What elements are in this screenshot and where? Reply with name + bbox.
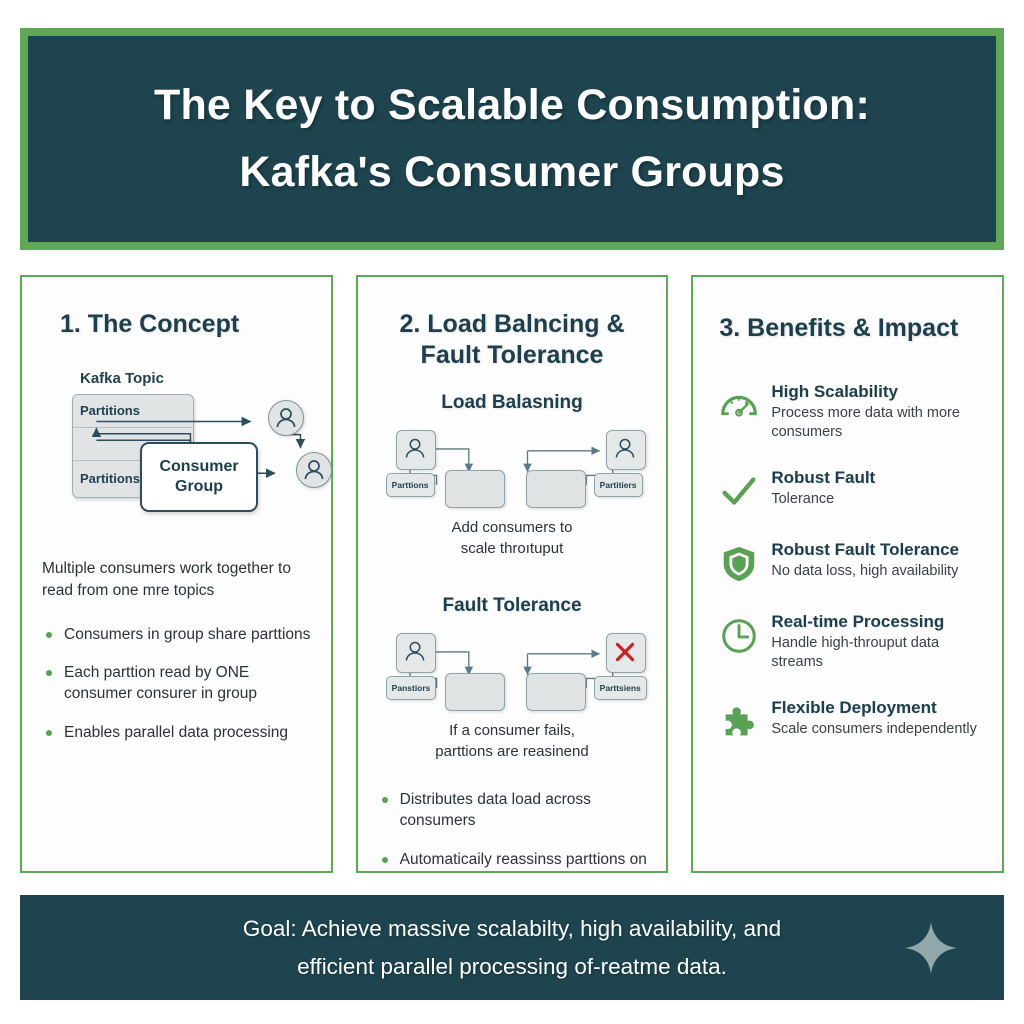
check-icon [717,470,761,514]
consumer-group-label-line1: Consumer [159,458,238,475]
benefits-list: High Scalability Process more data with … [711,382,984,744]
four-point-star-icon [903,920,959,976]
list-item: Consumers in group share parttions [40,624,313,645]
benefit-title: Robust Fault [771,468,980,488]
partition-group-box [526,470,586,508]
benefit-title: Flexible Deployment [771,698,980,718]
partition-label-box: Parttsiens [594,676,647,700]
benefit-item-high-scalability: High Scalability Process more data with … [717,382,980,442]
column-1-lead-text: Multiple consumers work together to read… [40,558,313,602]
puzzle-icon [717,700,761,744]
load-balancing-heading: Load Balasning [376,392,649,414]
benefit-description: Scale consumers independently [771,720,980,739]
benefit-description: Handle high-throuput data streams [771,634,980,672]
benefit-text-group: Real-time Processing Handle high-throupu… [761,612,980,672]
partition-group-box [445,470,505,508]
benefit-text-group: High Scalability Process more data with … [761,382,980,442]
partition-label-box: Partitiers [594,473,643,497]
clock-icon [717,614,761,658]
caption-line1: If a consumer fails, [449,722,575,739]
kafka-topic-label: Kafka Topic [80,370,164,387]
header-banner: The Key to Scalable Consumption: Kafka's… [20,28,1004,250]
fault-tolerance-heading: Fault Tolerance [376,595,649,617]
caption-line1: Add consumers to [452,519,573,536]
footer-goal-text: Goal: Achieve massive scalabilty, high a… [153,910,871,984]
benefit-item-robust-fault-tolerance: Robust Fault Tolerance No data loss, hig… [717,540,980,586]
partition-group-box [445,673,505,711]
column-1-bullet-list: Consumers in group share parttions Each … [40,624,313,744]
page-title-line1: The Key to Scalable Consumption: [154,81,870,129]
infographic-poster: The Key to Scalable Consumption: Kafka's… [0,0,1024,1024]
benefit-item-real-time-processing: Real-time Processing Handle high-throupu… [717,612,980,672]
column-benefits-impact: 3. Benefits & Impact High Scalabilit [691,275,1004,873]
list-item: Enables parallel data processing [40,722,313,743]
column-2-bullet-list: Distributes data load across consumers A… [376,789,649,873]
benefit-description: Process more data with more consumers [771,404,980,442]
benefit-text-group: Robust Fault Tolerance [761,468,980,509]
benefit-title: High Scalability [771,382,980,402]
consumer-avatar-icon [268,400,304,436]
fault-tolerance-caption: If a consumer fails, parttions are reasi… [376,721,649,762]
column-the-concept: 1. The Concept Kafka Topic Partitions Pa… [20,275,333,873]
fault-tolerance-diagram: Panstiors Parttsiens [376,627,649,709]
partition-group-box [526,673,586,711]
error-x-icon [607,634,643,670]
partition-label-box: Parttions [386,473,435,497]
benefit-text-group: Robust Fault Tolerance No data loss, hig… [761,540,980,581]
list-item: Automaticaily reassinss parttions on fai… [376,849,649,874]
list-item: Each parttion read by ONE consumer consu… [40,662,313,705]
failed-consumer-node-box [606,633,646,673]
partition-row: Partitions [73,395,193,428]
column-load-balancing-fault-tolerance: 2. Load Balncing & Fault Tolerance Load … [356,275,669,873]
columns-container: 1. The Concept Kafka Topic Partitions Pa… [20,275,1004,873]
gauge-icon [717,384,761,428]
partition-label-box: Panstiors [386,676,437,700]
list-item: Distributes data load across consumers [376,789,649,832]
benefit-item-flexible-deployment: Flexible Deployment Scale consumers inde… [717,698,980,744]
consumer-avatar-icon [296,452,332,488]
footer-line1: Goal: Achieve massive scalabilty, high a… [243,916,781,941]
shield-icon [717,542,761,586]
consumer-node-box [396,633,436,673]
benefit-description: Tolerance [771,490,980,509]
footer-banner: Goal: Achieve massive scalabilty, high a… [20,895,1004,1000]
benefit-title: Real-time Processing [771,612,980,632]
load-balancing-diagram: Parttions Partitiers [376,424,649,506]
page-title: The Key to Scalable Consumption: Kafka's… [114,72,910,205]
caption-line2: parttions are reasinend [435,743,588,760]
column-3-title: 3. Benefits & Impact [711,313,984,344]
benefit-item-robust-fault: Robust Fault Tolerance [717,468,980,514]
column-2-title: 2. Load Balncing & Fault Tolerance [376,309,649,370]
page-title-line2: Kafka's Consumer Groups [154,139,870,206]
benefit-text-group: Flexible Deployment Scale consumers inde… [761,698,980,739]
column-2-title-line2: Fault Tolerance [421,341,604,369]
benefit-description: No data loss, high availability [771,562,980,581]
column-2-title-line1: 2. Load Balncing & [399,310,624,338]
load-balancing-caption: Add consumers to scale throıtuput [376,518,649,559]
kafka-topic-diagram: Kafka Topic Partitions Partitions [40,370,313,520]
benefit-title: Robust Fault Tolerance [771,540,980,560]
consumer-group-label-line2: Group [175,478,223,495]
caption-line2: scale throıtuput [461,540,564,557]
column-1-title: 1. The Concept [40,309,313,340]
consumer-node-box [396,430,436,470]
consumer-group-box: Consumer Group [140,442,258,512]
consumer-node-box [606,430,646,470]
footer-line2: efficient parallel processing of-reatme … [297,954,727,979]
